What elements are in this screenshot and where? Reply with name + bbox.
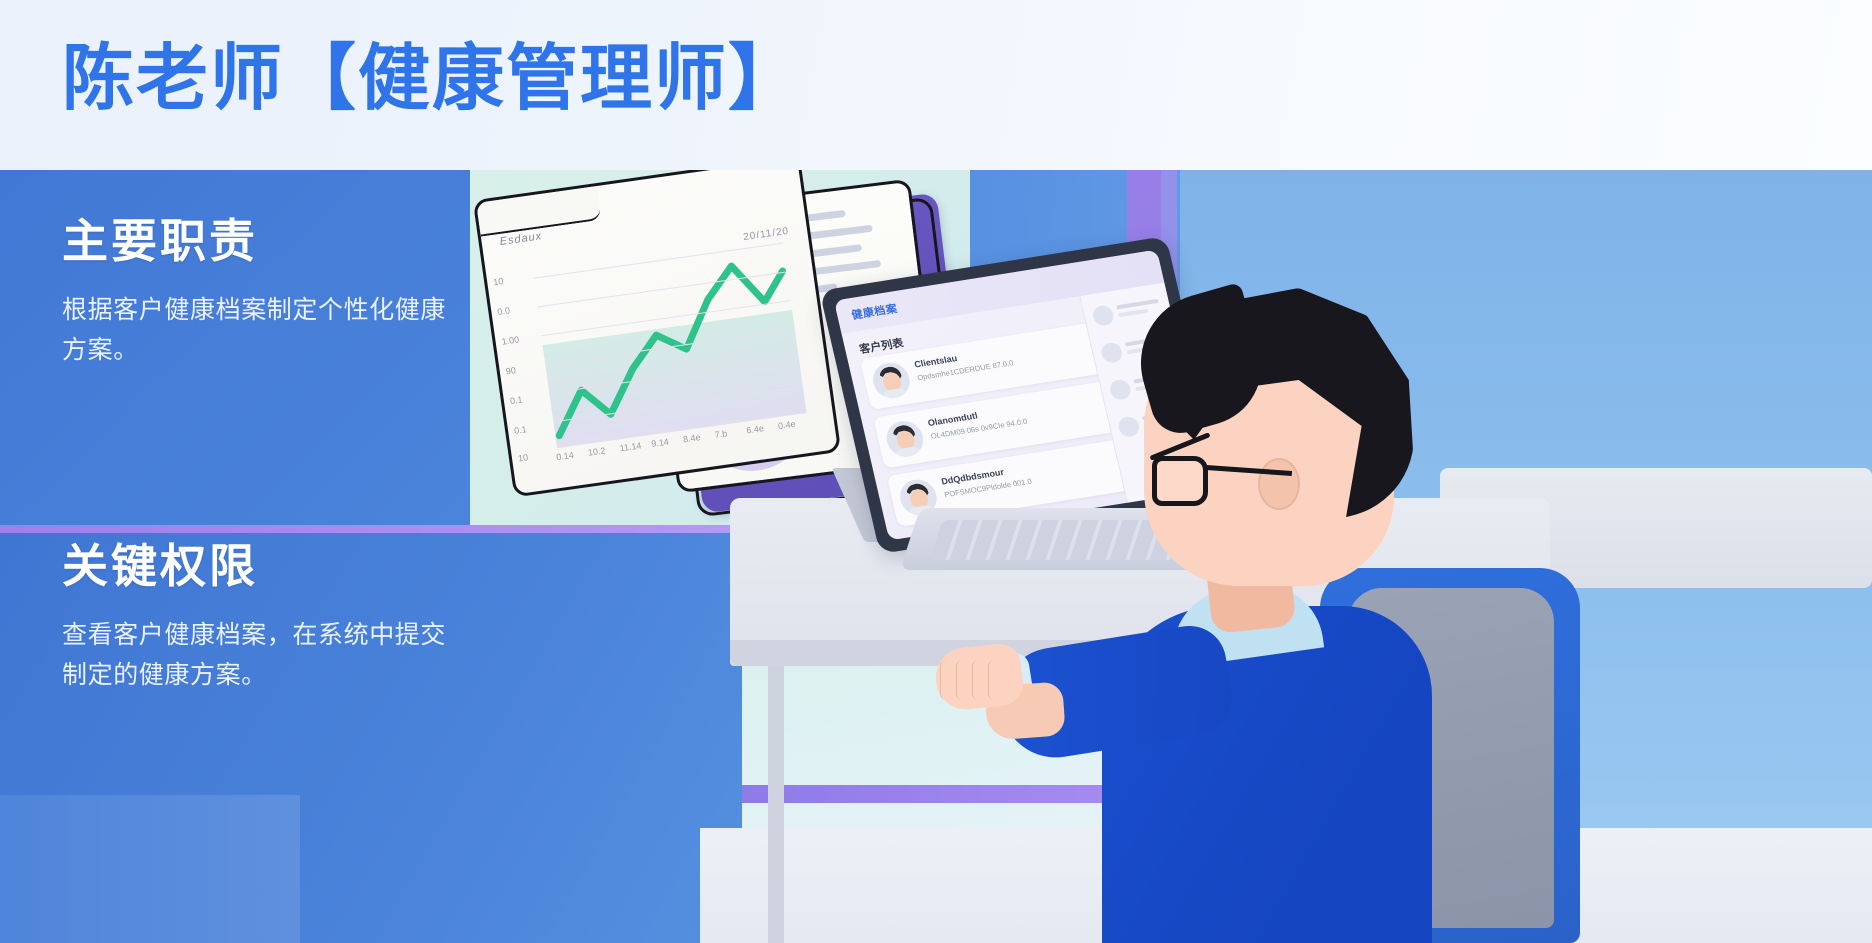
- avatar: [883, 419, 927, 460]
- app-brand-label: 健康档案: [850, 300, 899, 323]
- chart-x-tick: 10.2: [587, 445, 606, 457]
- header-band: 陈老师【健康管理师】: [0, 0, 1872, 170]
- chart-x-tick: 9.14: [651, 437, 670, 449]
- chart-y-tick: 1.00: [501, 334, 520, 346]
- glasses-icon: [1152, 456, 1208, 506]
- footer-blue-block: [0, 795, 300, 943]
- chart-x-tick: 0.14: [556, 450, 575, 462]
- section-title-duty: 主要职责: [62, 215, 462, 268]
- desk-leg: [768, 666, 784, 943]
- section-body-duty: 根据客户健康档案制定个性化健康方案。: [62, 290, 462, 371]
- avatar: [869, 360, 913, 401]
- chart-y-tick: 10: [517, 452, 528, 463]
- infographic-card: 陈老师【健康管理师】 主要职责 根据客户健康档案制定个性化健康方案。 关键权限 …: [0, 0, 1872, 943]
- person-fingers: [940, 660, 1014, 700]
- section-key-permission: 关键权限 查看客户健康档案，在系统中提交制定的健康方案。: [62, 540, 462, 696]
- chart-y-tick: 0.0: [497, 305, 511, 317]
- page-title: 陈老师【健康管理师】: [62, 40, 802, 119]
- person-ear: [1258, 458, 1300, 510]
- chart-y-tick: 90: [505, 365, 516, 376]
- card-tab: [476, 186, 602, 237]
- section-body-permission: 查看客户健康档案，在系统中提交制定的健康方案。: [62, 615, 462, 696]
- chart-x-tick: 11.14: [619, 440, 642, 453]
- chart-x-tick: 8.4e: [682, 432, 701, 444]
- chart-y-tick: 10: [493, 276, 504, 287]
- section-title-permission: 关键权限: [62, 540, 462, 593]
- section-main-duty: 主要职责 根据客户健康档案制定个性化健康方案。: [62, 215, 462, 371]
- illustration-workspace: 健康档案 客户列表 Clientslau Opdsmhe1CDERDUE 87.…: [700, 168, 1872, 943]
- chart-y-tick: 0.1: [509, 394, 523, 406]
- chart-y-tick: 0.1: [514, 424, 528, 436]
